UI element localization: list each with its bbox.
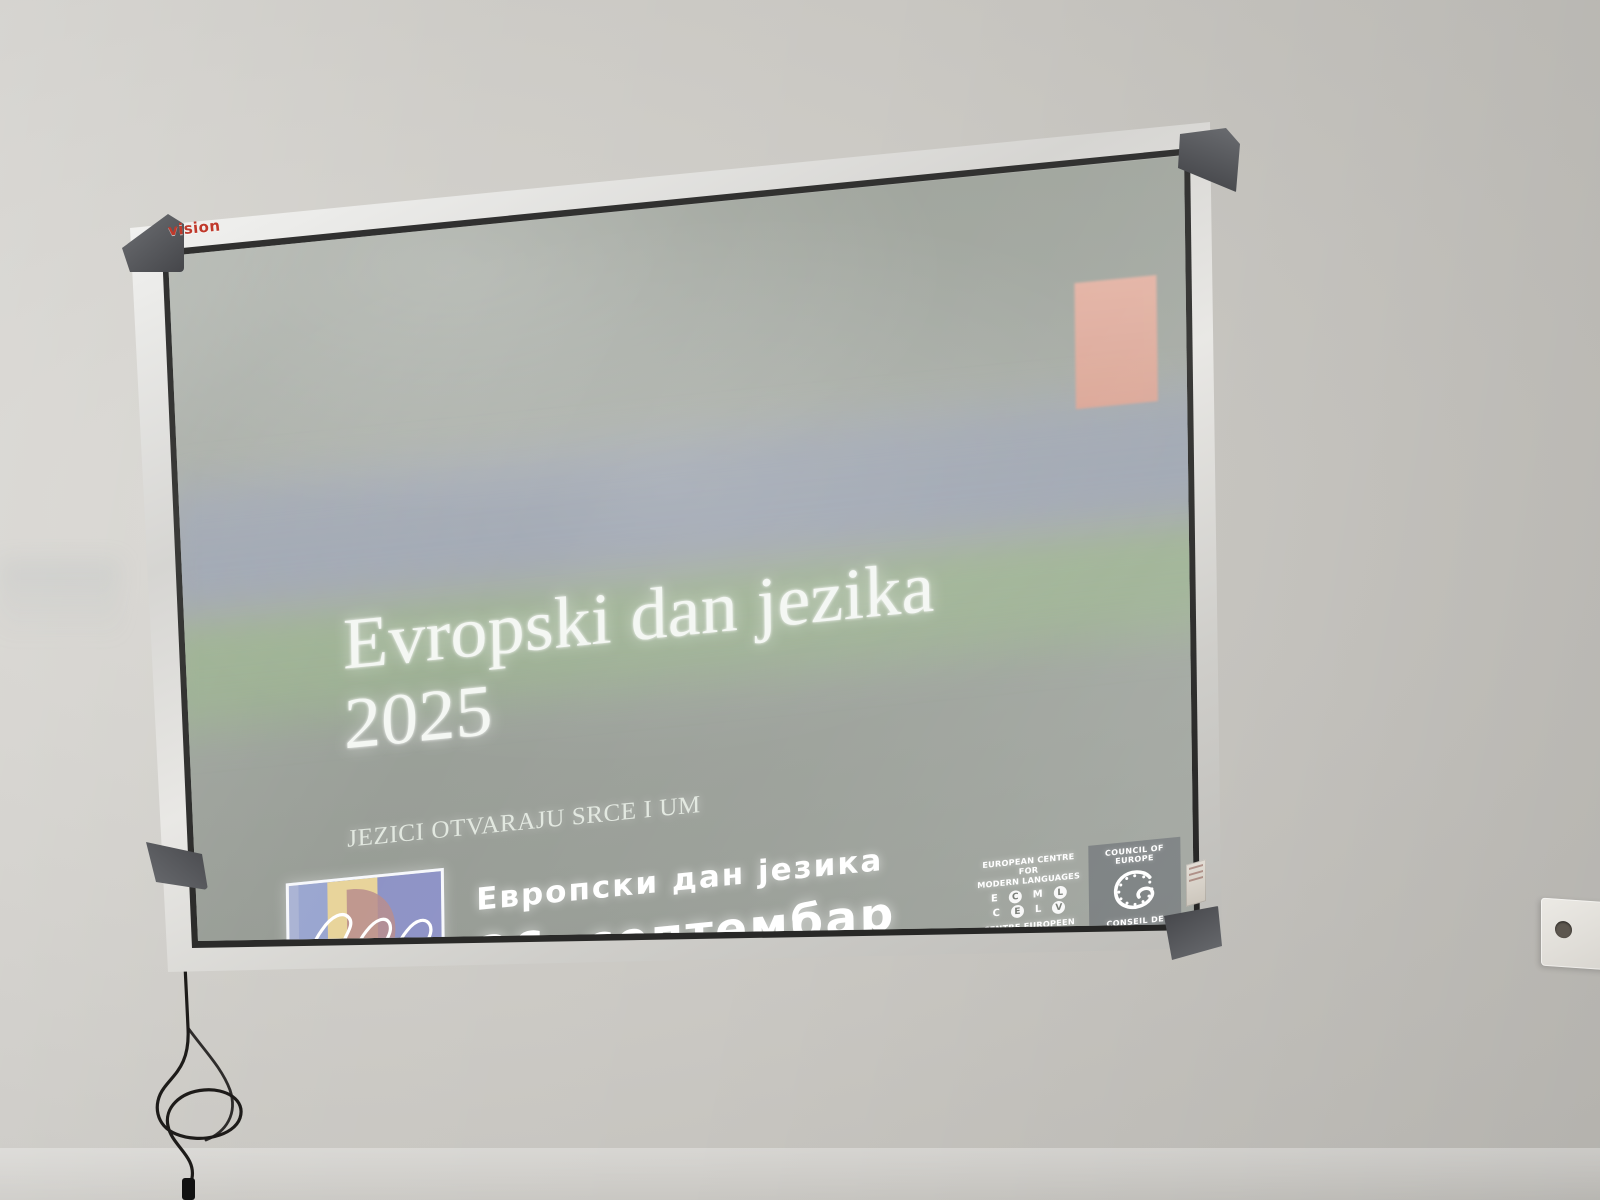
wall-shadow-haze bbox=[0, 560, 120, 640]
cable-connector bbox=[182, 1178, 195, 1200]
hanging-power-cable bbox=[130, 860, 410, 1200]
wall-power-socket[interactable] bbox=[1541, 898, 1600, 971]
